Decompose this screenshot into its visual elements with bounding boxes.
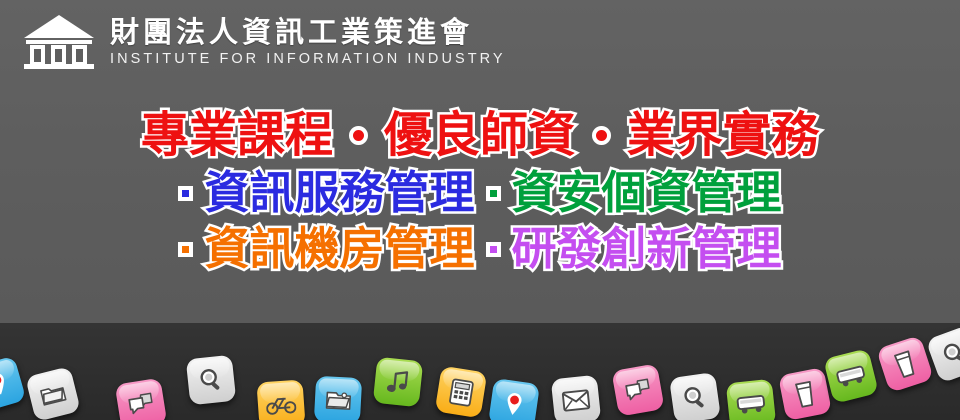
drink-icon[interactable] (876, 335, 934, 393)
headline-part-2: 優良師資 (384, 107, 576, 163)
org-name-en: INSTITUTE FOR INFORMATION INDUSTRY (110, 51, 506, 67)
promo-banner: 財團法人資訊工業策進會 INSTITUTE FOR INFORMATION IN… (0, 0, 960, 420)
chat-icon[interactable] (611, 363, 664, 416)
music-icon[interactable] (373, 357, 424, 408)
envelope-icon[interactable] (551, 375, 602, 420)
headline-line-2: 資訊服務管理 資安個資管理 (178, 164, 781, 222)
app-icon-ribbon (0, 323, 960, 420)
org-name-cn: 財團法人資訊工業策進會 (110, 17, 506, 49)
headline-line-1: 專業課程 優良師資 業界實務 (141, 104, 819, 166)
banner-lower-area (0, 323, 960, 420)
drink-icon[interactable] (778, 367, 832, 420)
logo-wordmark: 財團法人資訊工業策進會 INSTITUTE FOR INFORMATION IN… (110, 17, 506, 67)
photo-icon[interactable] (314, 376, 362, 420)
square-bullet-purple-icon (486, 242, 501, 257)
course-item-data-center-management[interactable]: 資訊機房管理 (204, 222, 474, 276)
institute-building-logo-icon (22, 12, 96, 72)
calculator-icon[interactable] (435, 366, 488, 419)
square-bullet-green-icon (486, 186, 501, 201)
course-item-rd-innovation-management[interactable]: 研發創新管理 (512, 222, 782, 276)
search-icon[interactable] (669, 372, 721, 420)
square-bullet-orange-icon (178, 242, 193, 257)
bus-icon[interactable] (726, 379, 777, 420)
map-pin-icon[interactable] (0, 356, 26, 413)
headline-stack: 專業課程 優良師資 業界實務 資訊服務管理 資安個資管理 資訊機房管理 研發創新… (0, 104, 960, 278)
organization-logo[interactable]: 財團法人資訊工業策進會 INSTITUTE FOR INFORMATION IN… (22, 12, 506, 72)
headline-line-3: 資訊機房管理 研發創新管理 (178, 220, 781, 278)
chat-icon[interactable] (115, 378, 168, 420)
course-item-info-service-management[interactable]: 資訊服務管理 (204, 166, 474, 220)
bus-icon[interactable] (823, 348, 879, 404)
square-bullet-blue-icon (178, 186, 193, 201)
bicycle-icon[interactable] (256, 379, 305, 420)
headline-part-1: 專業課程 (141, 107, 333, 163)
folder-icon[interactable] (25, 366, 81, 420)
headline-part-3: 業界實務 (627, 107, 819, 163)
map-pin-icon[interactable] (488, 378, 540, 420)
round-bullet-icon (349, 126, 368, 145)
course-item-infosec-privacy-management[interactable]: 資安個資管理 (512, 166, 782, 220)
search-icon[interactable] (186, 355, 237, 406)
round-bullet-icon (592, 126, 611, 145)
